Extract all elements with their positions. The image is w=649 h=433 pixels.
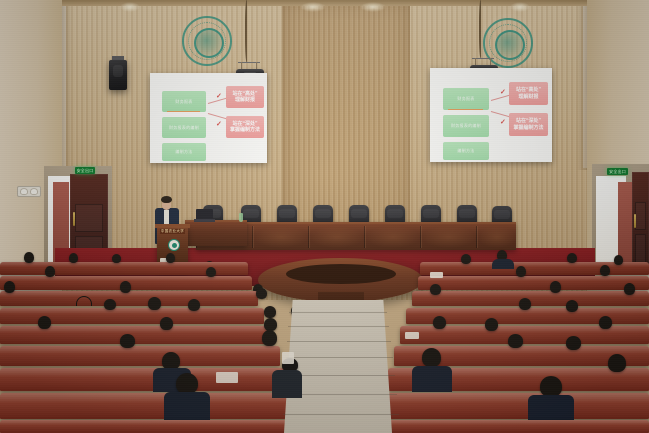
left-screen[interactable]: 财务报表 财务报表的编制 编制方法 ✓ ✓ 站在“高处” 理解财报 站在“深处”… xyxy=(150,73,267,163)
attendee-head-r4-2 xyxy=(262,330,277,346)
stair-step-edge-1 xyxy=(289,312,387,313)
head-table-segment-4 xyxy=(364,226,422,248)
attendee-shoulders-r2-2 xyxy=(528,395,574,423)
water-bottle[interactable] xyxy=(239,213,243,222)
wall-emblem-left-ring xyxy=(188,22,226,60)
attendee-head-r6-3 xyxy=(188,299,200,311)
head-table-chair-3 xyxy=(277,205,297,223)
left-slide-pink-text-1b: 理解财报 xyxy=(235,97,255,103)
bench-row-2-left[interactable] xyxy=(0,393,296,419)
right-slide-green-text-1: 财务报表 xyxy=(457,96,474,102)
bench-row-1-left[interactable] xyxy=(0,420,304,433)
left-slide-green-text-2: 财务报表的编制 xyxy=(169,125,199,131)
attendee-head-r2-2 xyxy=(540,376,562,397)
attendee-head-r6-6 xyxy=(519,298,531,310)
paper-aisle xyxy=(282,352,294,364)
exit-sign-left-text: 安全出口 xyxy=(77,168,94,174)
right-slide-pink-box-2: 站在“深处” 掌握编制方法 xyxy=(509,113,548,136)
stair-step-edge-7 xyxy=(283,414,399,415)
podium-emblem xyxy=(168,239,180,251)
right-slide-underline xyxy=(448,109,483,110)
left-slide-pink-text-2b: 掌握编制方法 xyxy=(230,127,260,133)
exit-door-right-handle[interactable] xyxy=(634,214,636,228)
attendee-head-r9-9 xyxy=(614,255,623,265)
right-slide-tick-1: ✓ xyxy=(500,89,506,96)
paper-r5 xyxy=(405,332,419,339)
attendee-head-r7-1 xyxy=(4,281,15,293)
bench-row-1-left-top xyxy=(0,420,304,425)
projector-cable-left xyxy=(245,0,249,62)
attendee-head-r6-1 xyxy=(104,299,116,310)
attendee-head-r9-1 xyxy=(24,252,34,263)
podium-top xyxy=(155,224,190,228)
exit-door-left-panel-upper xyxy=(75,204,103,232)
attendee-head-r8-3 xyxy=(516,266,526,277)
right-slide-pink-text-1b: 理解财报 xyxy=(518,94,538,100)
bench-row-3-left-top xyxy=(0,368,288,377)
exit-sign-right: 安全出口 xyxy=(607,168,628,175)
right-slide-green-text-2: 财务报表的编制 xyxy=(451,123,481,129)
attendee-shoulders-r2-1 xyxy=(164,392,210,420)
wall-speaker-left xyxy=(109,60,127,90)
attendee-head-r7-5 xyxy=(550,281,561,293)
stair-step-edge-2 xyxy=(288,326,389,327)
head-table-chair-5 xyxy=(349,205,369,223)
bench-row-2-right-top xyxy=(382,393,649,403)
bench-row-7-left[interactable] xyxy=(0,291,258,306)
bench-row-1-right[interactable] xyxy=(376,420,649,433)
attendee-head-r5-3 xyxy=(264,318,277,331)
attendee-head-r9-8 xyxy=(567,253,577,263)
right-slide-pink-text-2b: 掌握编制方法 xyxy=(513,125,543,131)
emergency-light-left xyxy=(17,186,41,197)
attendee-head-r5-2 xyxy=(160,317,173,330)
right-slide-pink-box-1: 站在“高处” 理解财报 xyxy=(509,82,548,105)
head-table-chair-8 xyxy=(457,205,477,223)
ceiling-light-glint-2 xyxy=(360,2,386,12)
stair-step-edge-4 xyxy=(286,357,393,358)
bench-row-1-right-top xyxy=(376,420,649,425)
right-slide-green-box-3: 编制方法 xyxy=(443,142,489,160)
ceiling-light-glint-1 xyxy=(300,2,326,12)
back-wall-center-panel xyxy=(282,0,410,240)
bench-row-2-right[interactable] xyxy=(382,393,649,419)
right-slide-tick-2: ✓ xyxy=(500,119,506,126)
attendee-head-r3-3 xyxy=(608,354,626,372)
head-table-segment-5 xyxy=(420,226,478,248)
bench-row-4-left-top xyxy=(0,346,280,354)
attendee-head-r7-3 xyxy=(256,288,267,299)
bench-row-4-left[interactable] xyxy=(0,346,280,366)
head-table-segment-2 xyxy=(252,226,310,248)
attendee-head-r4-3 xyxy=(508,334,523,348)
right-slide-green-box-2: 财务报表的编制 xyxy=(443,115,489,137)
attendee-head-r8-2 xyxy=(206,267,216,277)
attendee-head-r2-1 xyxy=(176,373,198,394)
stair-step-edge-3 xyxy=(287,341,391,342)
exit-door-right-panel-lower xyxy=(635,234,646,264)
right-slide-green-box-1: 财务报表 xyxy=(443,88,489,110)
bench-row-8-right[interactable] xyxy=(418,276,649,290)
head-table-chair-6 xyxy=(385,205,405,223)
auditorium-scene: 财务报表 财务报表的编制 编制方法 ✓ ✓ 站在“高处” 理解财报 站在“深处”… xyxy=(0,0,649,433)
attendee-shoulders-aisle-1 xyxy=(272,370,302,398)
attendee-head-r6-2 xyxy=(148,297,161,310)
exit-sign-right-text: 安全出口 xyxy=(609,169,626,175)
left-screen-slide: 财务报表 财务报表的编制 编制方法 ✓ ✓ 站在“高处” 理解财报 站在“深处”… xyxy=(150,73,267,163)
head-table-chair-4 xyxy=(313,205,333,223)
left-slide-green-box-3: 编制方法 xyxy=(162,143,206,161)
oval-conference-table-center xyxy=(286,264,396,284)
bench-row-2-left-top xyxy=(0,393,296,403)
attendee-shoulders-r3-2 xyxy=(412,366,452,392)
soffit-left-edge xyxy=(62,0,72,170)
bench-row-7-right-top xyxy=(412,291,649,297)
bench-row-6-left-top xyxy=(0,308,264,314)
paper-r8 xyxy=(430,272,443,278)
right-screen-slide: 财务报表 财务报表的编制 编制方法 ✓ ✓ 站在“高处” 理解财报 站在“深处”… xyxy=(430,68,552,162)
presenter-side-desk xyxy=(185,220,247,246)
projector-cable-right xyxy=(479,0,483,58)
presenter-head xyxy=(161,196,172,203)
left-slide-tick-1: ✓ xyxy=(216,93,222,100)
paper-r3 xyxy=(216,372,238,383)
left-slide-tick-2: ✓ xyxy=(216,121,222,128)
attendee-head-r5-1 xyxy=(38,316,51,329)
attendee-head-r9-2 xyxy=(69,253,78,263)
head-table-segment-3 xyxy=(308,226,366,248)
left-slide-green-text-3: 编制方法 xyxy=(175,149,192,155)
attendee-head-r4-1 xyxy=(120,334,135,348)
left-slide-underline xyxy=(167,111,200,112)
attendee-head-r6-4 xyxy=(264,306,276,318)
attendee-shoulders-r9-7 xyxy=(492,259,514,269)
attendee-head-r5-5 xyxy=(485,318,498,331)
wall-emblem-left xyxy=(182,16,232,66)
head-table-chair-7 xyxy=(421,205,441,223)
attendee-head-r7-4 xyxy=(430,284,441,295)
attendee-head-r9-4 xyxy=(166,253,175,263)
right-screen[interactable]: 财务报表 财务报表的编制 编制方法 ✓ ✓ 站在“高处” 理解财报 站在“深处”… xyxy=(430,68,552,162)
right-slide-green-text-3: 编制方法 xyxy=(457,148,474,154)
bench-row-8-right-top xyxy=(418,276,649,281)
head-table-segment-6 xyxy=(476,226,518,248)
laptop-base xyxy=(194,219,215,222)
left-slide-green-text-1: 财务报表 xyxy=(175,99,192,105)
wall-emblem-right-ring xyxy=(489,24,527,62)
attendee-head-r5-4 xyxy=(433,316,446,329)
left-slide-green-box-1: 财务报表 xyxy=(162,91,206,112)
bag-handle-r6 xyxy=(76,296,92,306)
attendee-head-r8-1 xyxy=(45,266,55,277)
ceiling-light-glint-3 xyxy=(120,2,140,12)
exit-sign-left: 安全出口 xyxy=(75,167,95,174)
attendee-head-r4-4 xyxy=(566,336,581,350)
podium-banner: 中国农业大学 xyxy=(160,229,185,234)
attendee-head-r6-7 xyxy=(566,300,578,312)
attendee-head-r7-6 xyxy=(624,283,635,295)
attendee-head-r9-3 xyxy=(112,254,121,263)
left-slide-pink-box-1: 站在“高处” 理解财报 xyxy=(226,86,264,108)
soffit-right-edge xyxy=(577,0,587,170)
exit-door-right-panel-upper xyxy=(635,202,646,230)
attendee-head-r3-2 xyxy=(422,348,441,367)
left-slide-green-box-2: 财务报表的编制 xyxy=(162,117,206,138)
attendee-head-r7-2 xyxy=(120,281,131,293)
left-slide-pink-box-2: 站在“深处” 掌握编制方法 xyxy=(226,116,264,138)
attendee-head-r9-6 xyxy=(461,254,471,264)
attendee-head-r8-4 xyxy=(600,265,610,276)
wall-speaker-left-bracket xyxy=(112,56,124,60)
podium-banner-text: 中国农业大学 xyxy=(161,229,184,234)
exit-door-left-handle[interactable] xyxy=(73,212,75,226)
bench-row-3-left[interactable] xyxy=(0,368,288,391)
ceiling-light-glint-4 xyxy=(510,2,530,12)
attendee-head-r5-6 xyxy=(599,316,612,329)
